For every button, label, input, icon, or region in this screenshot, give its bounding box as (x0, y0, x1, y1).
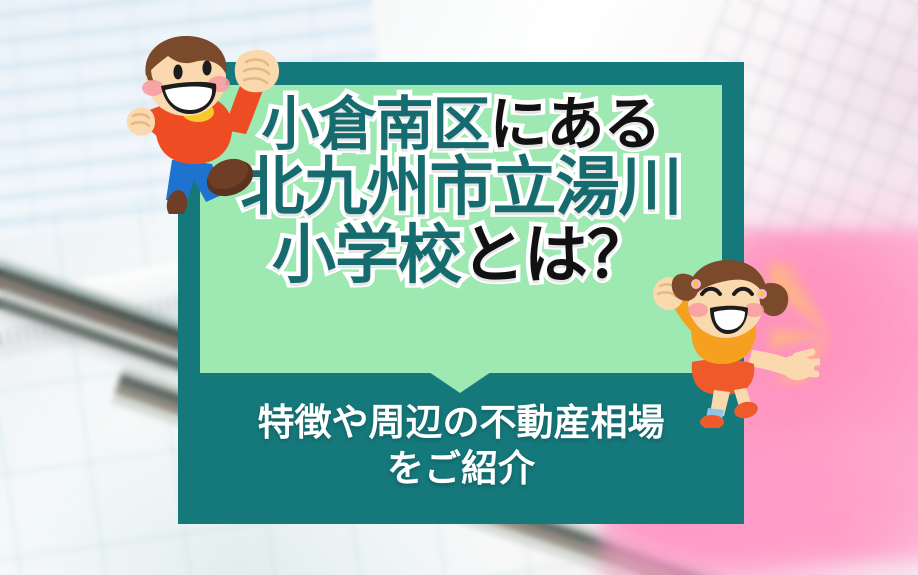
headline-line-1: 小倉南区にある (261, 94, 660, 155)
speech-panel-arrow (429, 372, 491, 393)
girl-character-illustration (640, 258, 820, 428)
headline-line-2-kanji: 北九州市立湯川 (241, 151, 682, 225)
headline-line-3-kana: とは？ (461, 219, 650, 293)
headline-line-1-kana: にある (490, 90, 661, 158)
boy-character-illustration (120, 34, 290, 214)
banner-image: 小倉南区にある 北九州市立湯川 小学校とは？ 特徴や周辺の不動産相場 をご紹介 (0, 0, 918, 575)
headline-line-3: 小学校とは？ (272, 223, 650, 291)
headline-line-3-kanji: 小学校 (272, 219, 461, 293)
headline-line-2: 北九州市立湯川 (241, 155, 682, 223)
subhead-line-2: をご紹介 (188, 446, 734, 492)
subhead-line-1: 特徴や周辺の不動産相場 (258, 401, 665, 444)
headline-line-1-kanji: 小倉南区 (261, 90, 489, 158)
